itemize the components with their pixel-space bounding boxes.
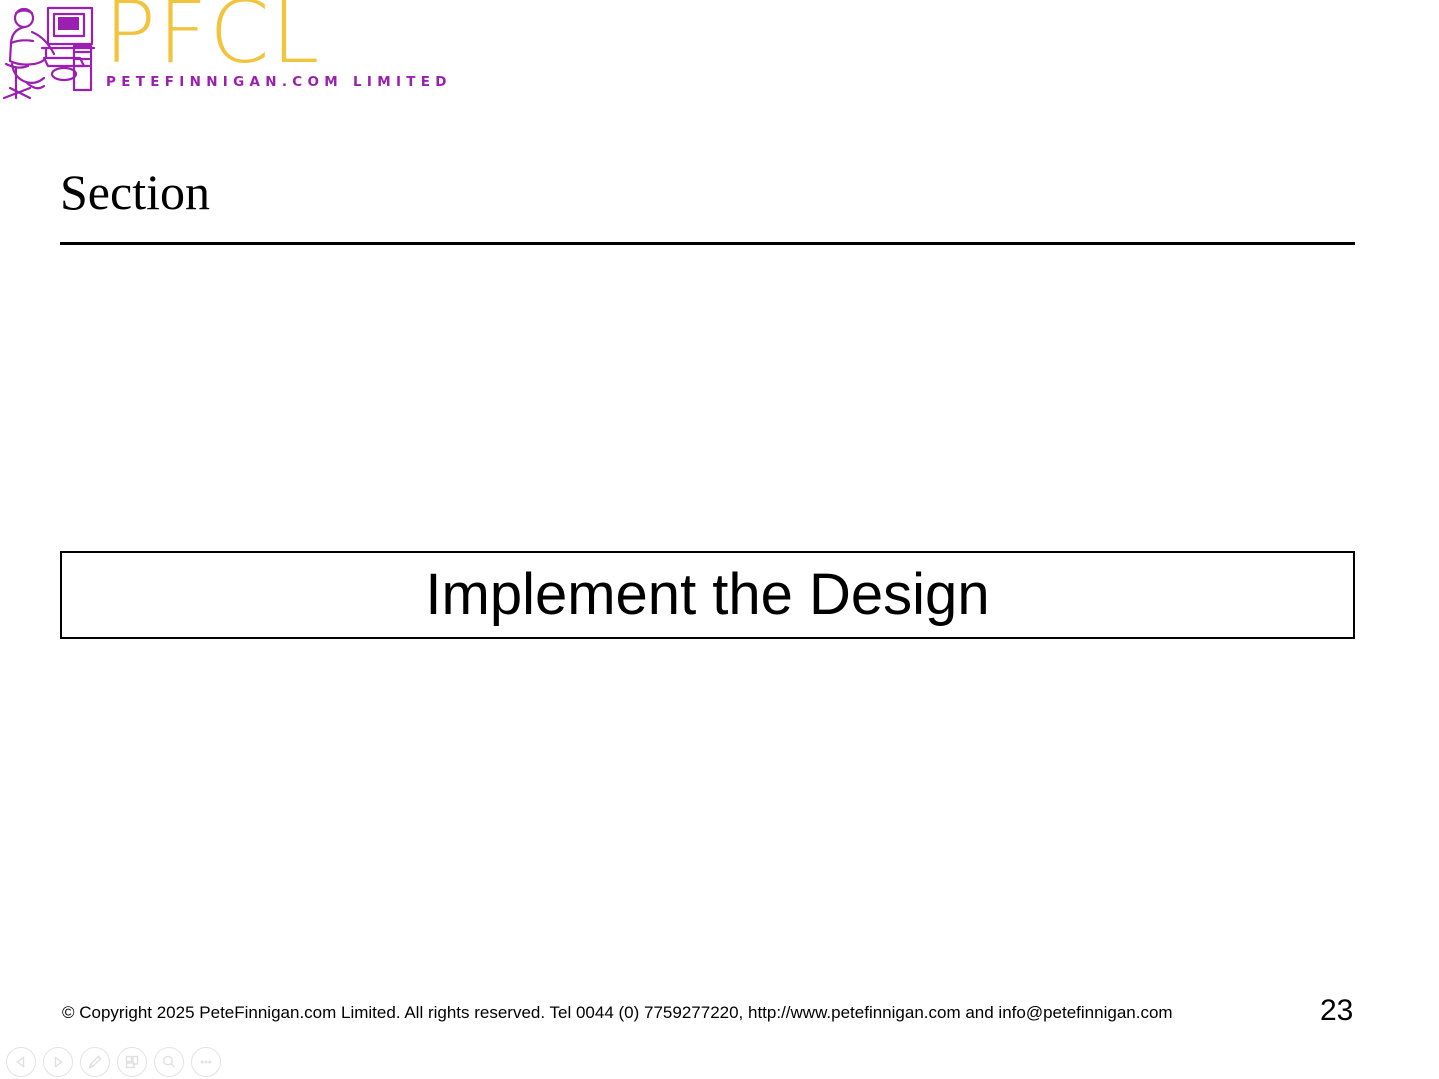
zoom-tool-button[interactable] bbox=[154, 1047, 184, 1077]
page-number: 23 bbox=[1320, 993, 1353, 1029]
page-title: Section bbox=[60, 164, 210, 220]
section-title-box-text: Implement the Design bbox=[425, 563, 989, 627]
section-title-box: Implement the Design bbox=[60, 551, 1355, 639]
more-options-button[interactable] bbox=[191, 1047, 221, 1077]
slide-overview-button[interactable] bbox=[117, 1047, 147, 1077]
viewer-toolbar bbox=[6, 1046, 221, 1078]
triangle-right-icon bbox=[50, 1054, 66, 1070]
next-slide-button[interactable] bbox=[43, 1047, 73, 1077]
person-at-computer-icon bbox=[2, 2, 102, 106]
previous-slide-button[interactable] bbox=[6, 1047, 36, 1077]
triangle-left-icon bbox=[13, 1054, 29, 1070]
title-divider bbox=[60, 242, 1355, 245]
footer-copyright: © Copyright 2025 PeteFinnigan.com Limite… bbox=[62, 1002, 1173, 1024]
ellipsis-icon bbox=[197, 1053, 215, 1071]
logo-wordmark: PFCL bbox=[104, 0, 426, 72]
magnifier-icon bbox=[160, 1053, 178, 1071]
pen-icon bbox=[86, 1053, 104, 1071]
logo-tagline: PETEFINNIGAN.COM LIMITED bbox=[106, 74, 452, 90]
pen-tool-button[interactable] bbox=[80, 1047, 110, 1077]
grid-icon bbox=[123, 1053, 141, 1071]
brand-logo: PFCL PETEFINNIGAN.COM LIMITED bbox=[0, 0, 430, 108]
